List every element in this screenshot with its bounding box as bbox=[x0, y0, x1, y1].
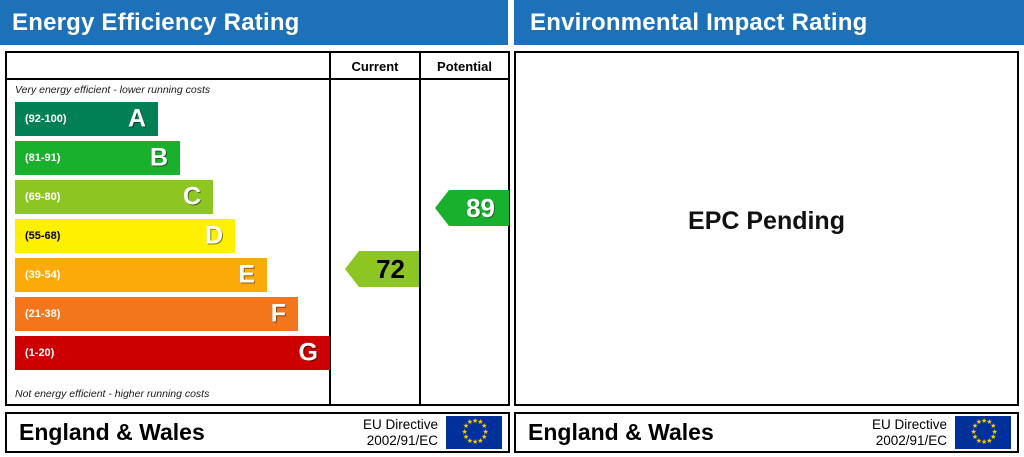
band-range-a: (92-100) bbox=[15, 113, 67, 125]
band-letter-g: G bbox=[299, 341, 318, 366]
eu-flag-icon-right: ★★★★★★★★★★★★ bbox=[955, 416, 1011, 449]
band-g: (1-20)G bbox=[15, 336, 330, 370]
current-rating-value: 72 bbox=[376, 256, 405, 282]
column-header-current: Current bbox=[331, 53, 419, 80]
band-c: (69-80)C bbox=[15, 180, 213, 214]
current-rating-arrow: 72 bbox=[345, 251, 419, 287]
band-range-b: (81-91) bbox=[15, 152, 60, 164]
environmental-rating-title: Environmental Impact Rating bbox=[514, 9, 867, 37]
eu-star-icon: ★ bbox=[976, 421, 980, 425]
note-very-efficient: Very energy efficient - lower running co… bbox=[15, 84, 210, 96]
eu-directive-right: EU Directive 2002/91/EC bbox=[872, 417, 955, 448]
eu-star-icon: ★ bbox=[463, 436, 467, 440]
band-e: (39-54)E bbox=[15, 258, 267, 292]
band-letter-d: D bbox=[205, 224, 223, 249]
potential-rating-arrow: 89 bbox=[435, 190, 509, 226]
epc-pending-message: EPC Pending bbox=[688, 207, 845, 236]
epc-graphic: Energy Efficiency Rating Environmental I… bbox=[0, 0, 1024, 457]
note-not-efficient: Not energy efficient - higher running co… bbox=[15, 388, 209, 400]
band-range-e: (39-54) bbox=[15, 269, 60, 281]
band-range-f: (21-38) bbox=[15, 308, 60, 320]
band-b: (81-91)B bbox=[15, 141, 180, 175]
band-letter-c: C bbox=[183, 185, 201, 210]
band-list: (92-100)A(81-91)B(69-80)C(55-68)D(39-54)… bbox=[15, 102, 330, 375]
energy-rating-title: Energy Efficiency Rating bbox=[0, 9, 300, 37]
eu-star-icon: ★ bbox=[971, 431, 975, 435]
directive-line2-left: 2002/91/EC bbox=[367, 433, 438, 448]
energy-efficiency-chart: Current Potential Very energy efficient … bbox=[5, 51, 510, 406]
band-range-d: (55-68) bbox=[15, 230, 60, 242]
directive-line2-right: 2002/91/EC bbox=[876, 433, 947, 448]
region-label-left: England & Wales bbox=[7, 419, 363, 446]
eu-star-icon: ★ bbox=[462, 431, 466, 435]
environmental-rating-header: Environmental Impact Rating bbox=[514, 0, 1024, 45]
eu-star-icon: ★ bbox=[972, 436, 976, 440]
region-label-right: England & Wales bbox=[516, 419, 872, 446]
chart-bands-area: Very energy efficient - lower running co… bbox=[7, 80, 329, 404]
footer-right: England & Wales EU Directive 2002/91/EC … bbox=[514, 412, 1019, 453]
footer-left: England & Wales EU Directive 2002/91/EC … bbox=[5, 412, 510, 453]
eu-star-icon: ★ bbox=[467, 421, 471, 425]
band-a: (92-100)A bbox=[15, 102, 158, 136]
band-range-g: (1-20) bbox=[15, 347, 54, 359]
band-letter-f: F bbox=[271, 302, 286, 327]
eu-flag-icon-left: ★★★★★★★★★★★★ bbox=[446, 416, 502, 449]
band-d: (55-68)D bbox=[15, 219, 235, 253]
band-f: (21-38)F bbox=[15, 297, 298, 331]
energy-rating-header: Energy Efficiency Rating bbox=[0, 0, 508, 45]
directive-line1-left: EU Directive bbox=[363, 417, 438, 432]
band-letter-b: B bbox=[150, 146, 168, 171]
environmental-impact-panel: EPC Pending bbox=[514, 51, 1019, 406]
band-letter-e: E bbox=[238, 263, 255, 288]
band-letter-a: A bbox=[128, 107, 146, 132]
column-divider-potential bbox=[419, 53, 421, 404]
column-header-potential: Potential bbox=[421, 53, 508, 80]
band-range-c: (69-80) bbox=[15, 191, 60, 203]
potential-rating-value: 89 bbox=[466, 195, 495, 221]
eu-directive-left: EU Directive 2002/91/EC bbox=[363, 417, 446, 448]
directive-line1-right: EU Directive bbox=[872, 417, 947, 432]
